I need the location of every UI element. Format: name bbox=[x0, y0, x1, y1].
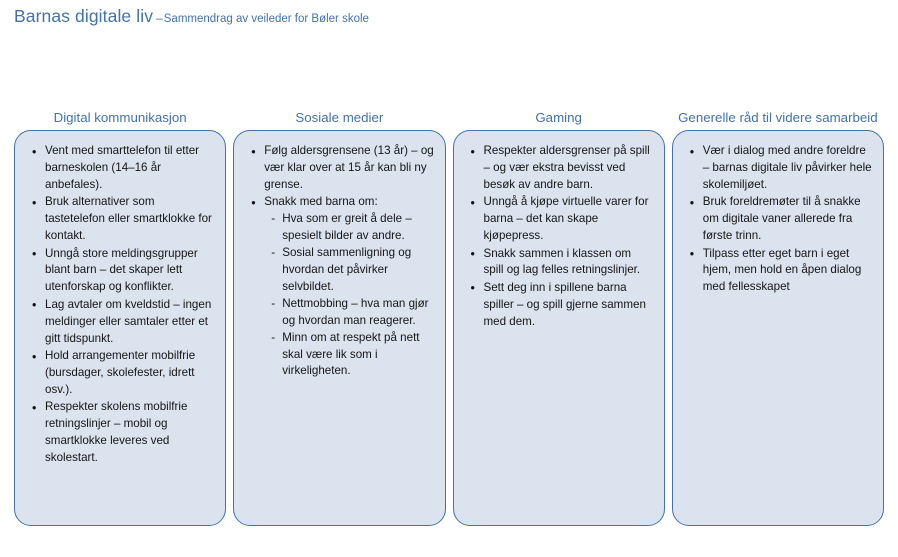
column-header: Gaming bbox=[453, 78, 665, 130]
list-item: Følg aldersgrensene (13 år) – og vær kla… bbox=[262, 143, 434, 194]
list-item-text: Hold arrangementer mobilfrie (bursdager,… bbox=[45, 348, 215, 399]
list-item-text: Snakk med barna om: bbox=[264, 194, 434, 211]
bullet-list: Respekter aldersgrenser på spill – og væ… bbox=[460, 143, 654, 331]
page-title: Barnas digitale liv–Sammendrag av veiled… bbox=[14, 6, 369, 27]
list-item-text: Lag avtaler om kveldstid – ingen melding… bbox=[45, 297, 215, 348]
list-item: Respekter aldersgrenser på spill – og væ… bbox=[482, 143, 654, 194]
bullet-list: Følg aldersgrensene (13 år) – og vær kla… bbox=[240, 143, 434, 380]
list-item: Bruk foreldremøter til å snakke om digit… bbox=[701, 194, 873, 245]
list-item: Hold arrangementer mobilfrie (bursdager,… bbox=[43, 348, 215, 399]
list-item: Unngå å kjøpe virtuelle varer for barna … bbox=[482, 194, 654, 245]
sub-bullet-list: Hva som er greit å dele – spesielt bilde… bbox=[264, 211, 434, 380]
column-2: Sosiale medierFølg aldersgrensene (13 år… bbox=[233, 78, 445, 526]
bullet-list: Vær i dialog med andre foreldre – barnas… bbox=[679, 143, 873, 296]
page-title-dash: – bbox=[156, 11, 163, 25]
list-item-text: Bruk foreldremøter til å snakke om digit… bbox=[703, 194, 873, 245]
column-3: GamingRespekter aldersgrenser på spill –… bbox=[453, 78, 665, 526]
list-item: Lag avtaler om kveldstid – ingen melding… bbox=[43, 297, 215, 348]
list-item: Snakk sammen i klassen om spill og lag f… bbox=[482, 246, 654, 280]
four-column-board: Digital kommunikasjonVent med smarttelef… bbox=[14, 78, 884, 526]
page-title-main: Barnas digitale liv bbox=[14, 6, 153, 26]
column-card: Respekter aldersgrenser på spill – og væ… bbox=[453, 130, 665, 526]
sub-list-item: Minn om at respekt på nett skal være lik… bbox=[282, 330, 434, 381]
list-item-text: Respekter skolens mobilfrie retningslinj… bbox=[45, 399, 215, 467]
list-item-text: Vent med smarttelefon til etter barnesko… bbox=[45, 143, 215, 194]
sub-list-item: Hva som er greit å dele – spesielt bilde… bbox=[282, 211, 434, 245]
list-item: Tilpass etter eget barn i eget hjem, men… bbox=[701, 246, 873, 297]
list-item: Bruk alternativer som tastetelefon eller… bbox=[43, 194, 215, 245]
list-item: Unngå store meldingsgrupper blant barn –… bbox=[43, 246, 215, 297]
column-card: Vent med smarttelefon til etter barnesko… bbox=[14, 130, 226, 526]
list-item-text: Tilpass etter eget barn i eget hjem, men… bbox=[703, 246, 873, 297]
column-card: Følg aldersgrensene (13 år) – og vær kla… bbox=[233, 130, 445, 526]
list-item-text: Bruk alternativer som tastetelefon eller… bbox=[45, 194, 215, 245]
bullet-list: Vent med smarttelefon til etter barnesko… bbox=[21, 143, 215, 467]
list-item-text: Respekter aldersgrenser på spill – og væ… bbox=[484, 143, 654, 194]
list-item: Respekter skolens mobilfrie retningslinj… bbox=[43, 399, 215, 467]
column-header: Digital kommunikasjon bbox=[14, 78, 226, 130]
column-1: Digital kommunikasjonVent med smarttelef… bbox=[14, 78, 226, 526]
list-item-text: Unngå store meldingsgrupper blant barn –… bbox=[45, 246, 215, 297]
list-item-text: Snakk sammen i klassen om spill og lag f… bbox=[484, 246, 654, 280]
list-item-text: Sett deg inn i spillene barna spiller – … bbox=[484, 280, 654, 331]
column-header: Generelle råd til videre samarbeid bbox=[672, 78, 884, 130]
page-title-subtitle: Sammendrag av veileder for Bøler skole bbox=[164, 13, 369, 25]
column-header: Sosiale medier bbox=[233, 78, 445, 130]
list-item: Snakk med barna om:Hva som er greit å de… bbox=[262, 194, 434, 380]
list-item: Vær i dialog med andre foreldre – barnas… bbox=[701, 143, 873, 194]
list-item-text: Unngå å kjøpe virtuelle varer for barna … bbox=[484, 194, 654, 245]
column-4: Generelle råd til videre samarbeidVær i … bbox=[672, 78, 884, 526]
list-item-text: Vær i dialog med andre foreldre – barnas… bbox=[703, 143, 873, 194]
sub-list-item: Sosial sammenligning og hvordan det påvi… bbox=[282, 245, 434, 296]
list-item: Sett deg inn i spillene barna spiller – … bbox=[482, 280, 654, 331]
list-item-text: Følg aldersgrensene (13 år) – og vær kla… bbox=[264, 143, 434, 194]
sub-list-item: Nettmobbing – hva man gjør og hvordan ma… bbox=[282, 296, 434, 330]
column-card: Vær i dialog med andre foreldre – barnas… bbox=[672, 130, 884, 526]
list-item: Vent med smarttelefon til etter barnesko… bbox=[43, 143, 215, 194]
